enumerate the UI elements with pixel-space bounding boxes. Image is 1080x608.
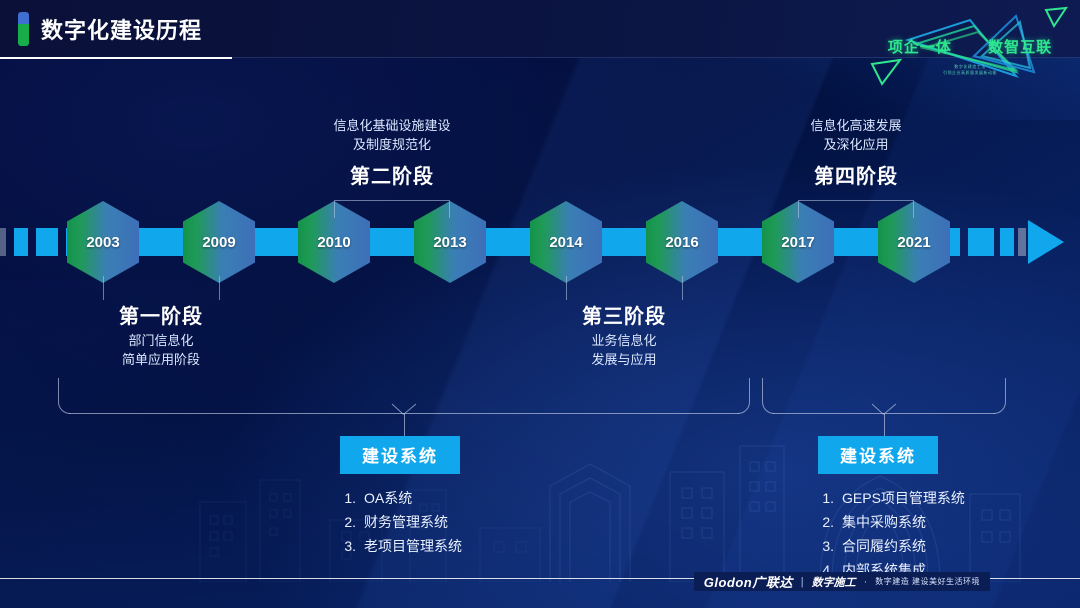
list-item-label: 财务管理系统: [364, 510, 448, 534]
axis-dash-5: [1000, 228, 1014, 256]
stage-2-block: 信息化基础设施建设 及制度规范化 第二阶段: [292, 116, 492, 189]
stage-4-desc-line1: 信息化高速发展: [756, 116, 956, 135]
title-underline: [0, 57, 232, 59]
timeline-node-label: 2016: [665, 234, 698, 251]
axis-dash-6: [1018, 228, 1026, 256]
axis-dash-1: [14, 228, 28, 256]
list-item: 3. 合同履约系统: [818, 534, 1068, 558]
timeline-node-label: 2010: [317, 234, 350, 251]
left-group-brace: [58, 378, 750, 414]
logo-subtext-line2: 引领企业高质量发展新动能: [866, 70, 1074, 76]
axis-dash-0: [0, 228, 6, 256]
stage-4-bracket: [798, 200, 914, 218]
logo-slogan-part1: 项企一体: [888, 39, 952, 56]
list-item-number: 3.: [818, 534, 834, 558]
list-item-label: GEPS项目管理系统: [842, 486, 965, 510]
list-item: 1. OA系统: [340, 486, 600, 510]
stage-1-block: 第一阶段 部门信息化 简单应用阶段: [61, 300, 261, 369]
list-item-label: 合同履约系统: [842, 534, 926, 558]
stage-1-desc-line2: 简单应用阶段: [61, 350, 261, 369]
logo-subtext: 数字化建造工法 引领企业高质量发展新动能: [866, 64, 1074, 76]
list-item-label: OA系统: [364, 486, 412, 510]
stage-2-name: 第二阶段: [292, 160, 492, 189]
stage-2-desc-line2: 及制度规范化: [292, 135, 492, 154]
list-item-number: 3.: [340, 534, 356, 558]
systems-left-panel: 建设系统 1. OA系统 2. 财务管理系统 3. 老项目管理系统: [340, 436, 600, 558]
list-item-label: 老项目管理系统: [364, 534, 462, 558]
systems-left-title: 建设系统: [340, 436, 460, 474]
systems-left-list: 1. OA系统 2. 财务管理系统 3. 老项目管理系统: [340, 486, 600, 558]
timeline-node-label: 2013: [433, 234, 466, 251]
page-title: 数字化建设历程: [18, 12, 202, 46]
timeline-node-label: 2003: [86, 234, 119, 251]
stage-1-stem-right: [219, 276, 220, 300]
stage-4-block: 信息化高速发展 及深化应用 第四阶段: [756, 116, 956, 189]
footer-separator: |: [801, 576, 804, 588]
page-title-text: 数字化建设历程: [41, 13, 202, 45]
footer-dot: ·: [864, 576, 868, 588]
stage-3-stem-right: [682, 276, 683, 300]
brand-logo: 项企一体 数智互联 数字化建造工法 引领企业高质量发展新动能: [866, 2, 1074, 94]
stage-3-block: 第三阶段 业务信息化 发展与应用: [524, 300, 724, 369]
footer-branding: Glodon广联达 | 数字施工 · 数字建造 建设美好生活环境: [694, 572, 990, 591]
right-group-brace: [762, 378, 1006, 414]
list-item: 1. GEPS项目管理系统: [818, 486, 1068, 510]
slide-root: 数字化建设历程 项企一体 数智互联 数字化建造工法 引领企业高质量发展新动能: [0, 0, 1080, 608]
timeline-node-label: 2021: [897, 234, 930, 251]
stage-3-desc-line2: 发展与应用: [524, 350, 724, 369]
stage-1-stem-left: [103, 276, 104, 300]
stage-4-desc-line2: 及深化应用: [756, 135, 956, 154]
list-item: 2. 集中采购系统: [818, 510, 1068, 534]
axis-dash-4: [968, 228, 994, 256]
list-item-number: 2.: [818, 510, 834, 534]
stage-3-name: 第三阶段: [524, 300, 724, 329]
logo-slogan: 项企一体 数智互联: [866, 36, 1074, 57]
stage-2-bracket: [334, 200, 450, 218]
stage-4-name: 第四阶段: [756, 160, 956, 189]
footer-tagline-primary: 数字施工: [812, 574, 856, 590]
list-item: 2. 财务管理系统: [340, 510, 600, 534]
timeline-node-label: 2009: [202, 234, 235, 251]
footer-brand: Glodon广联达: [704, 572, 793, 591]
stage-3-stem-left: [566, 276, 567, 300]
systems-right-list: 1. GEPS项目管理系统 2. 集中采购系统 3. 合同履约系统 4. 内部系…: [818, 486, 1068, 582]
stage-1-desc-line1: 部门信息化: [61, 331, 261, 350]
stage-3-desc-line1: 业务信息化: [524, 331, 724, 350]
list-item-label: 集中采购系统: [842, 510, 926, 534]
axis-arrow-icon: [1028, 220, 1064, 264]
systems-right-panel: 建设系统 1. GEPS项目管理系统 2. 集中采购系统 3. 合同履约系统 4…: [818, 436, 1068, 582]
stage-2-desc-line1: 信息化基础设施建设: [292, 116, 492, 135]
timeline-node-label: 2017: [781, 234, 814, 251]
systems-right-title: 建设系统: [818, 436, 938, 474]
list-item-number: 1.: [340, 486, 356, 510]
title-accent-bar-icon: [18, 12, 29, 46]
timeline-node-label: 2014: [549, 234, 582, 251]
list-item: 3. 老项目管理系统: [340, 534, 600, 558]
list-item-number: 2.: [340, 510, 356, 534]
logo-slogan-part2: 数智互联: [988, 39, 1052, 56]
axis-dash-2: [36, 228, 58, 256]
footer-tagline-secondary: 数字建造 建设美好生活环境: [875, 576, 980, 587]
stage-1-name: 第一阶段: [61, 300, 261, 329]
list-item-number: 1.: [818, 486, 834, 510]
